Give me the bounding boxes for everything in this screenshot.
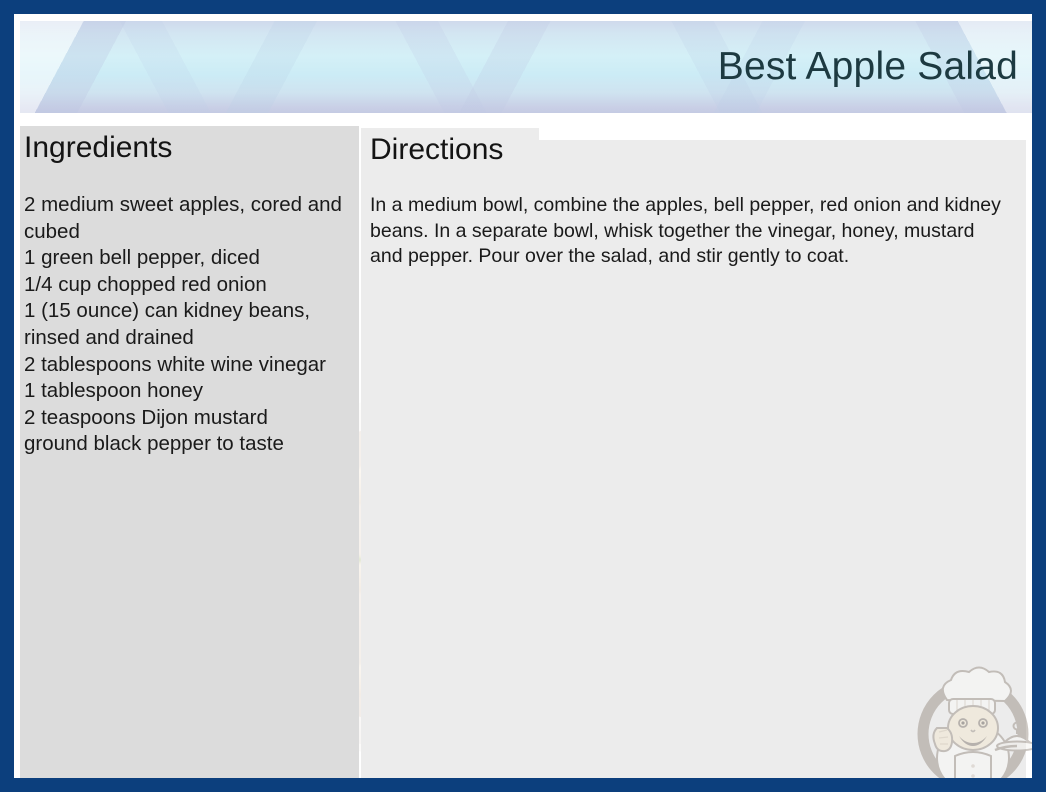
list-item: 2 teaspoons Dijon mustard bbox=[24, 405, 349, 432]
list-item: 2 tablespoons white wine vinegar bbox=[24, 352, 349, 379]
list-item: 1/4 cup chopped red onion bbox=[24, 272, 349, 299]
page-title: Best Apple Salad bbox=[718, 45, 1018, 89]
list-item: 1 green bell pepper, diced bbox=[24, 245, 349, 272]
ingredients-list: 2 medium sweet apples, cored and cubed 1… bbox=[24, 192, 349, 458]
recipe-card: Best Apple Salad bbox=[0, 0, 1046, 792]
title-banner: Best Apple Salad bbox=[20, 21, 1032, 113]
ingredients-heading: Ingredients bbox=[24, 131, 172, 165]
directions-heading: Directions bbox=[370, 133, 503, 167]
directions-text: In a medium bowl, combine the apples, be… bbox=[370, 193, 1010, 270]
page-surface: Best Apple Salad bbox=[14, 14, 1032, 778]
list-item: 1 (15 ounce) can kidney beans, rinsed an… bbox=[24, 298, 349, 351]
list-item: 2 medium sweet apples, cored and cubed bbox=[24, 192, 349, 245]
list-item: 1 tablespoon honey bbox=[24, 378, 349, 405]
list-item: ground black pepper to taste bbox=[24, 431, 349, 458]
